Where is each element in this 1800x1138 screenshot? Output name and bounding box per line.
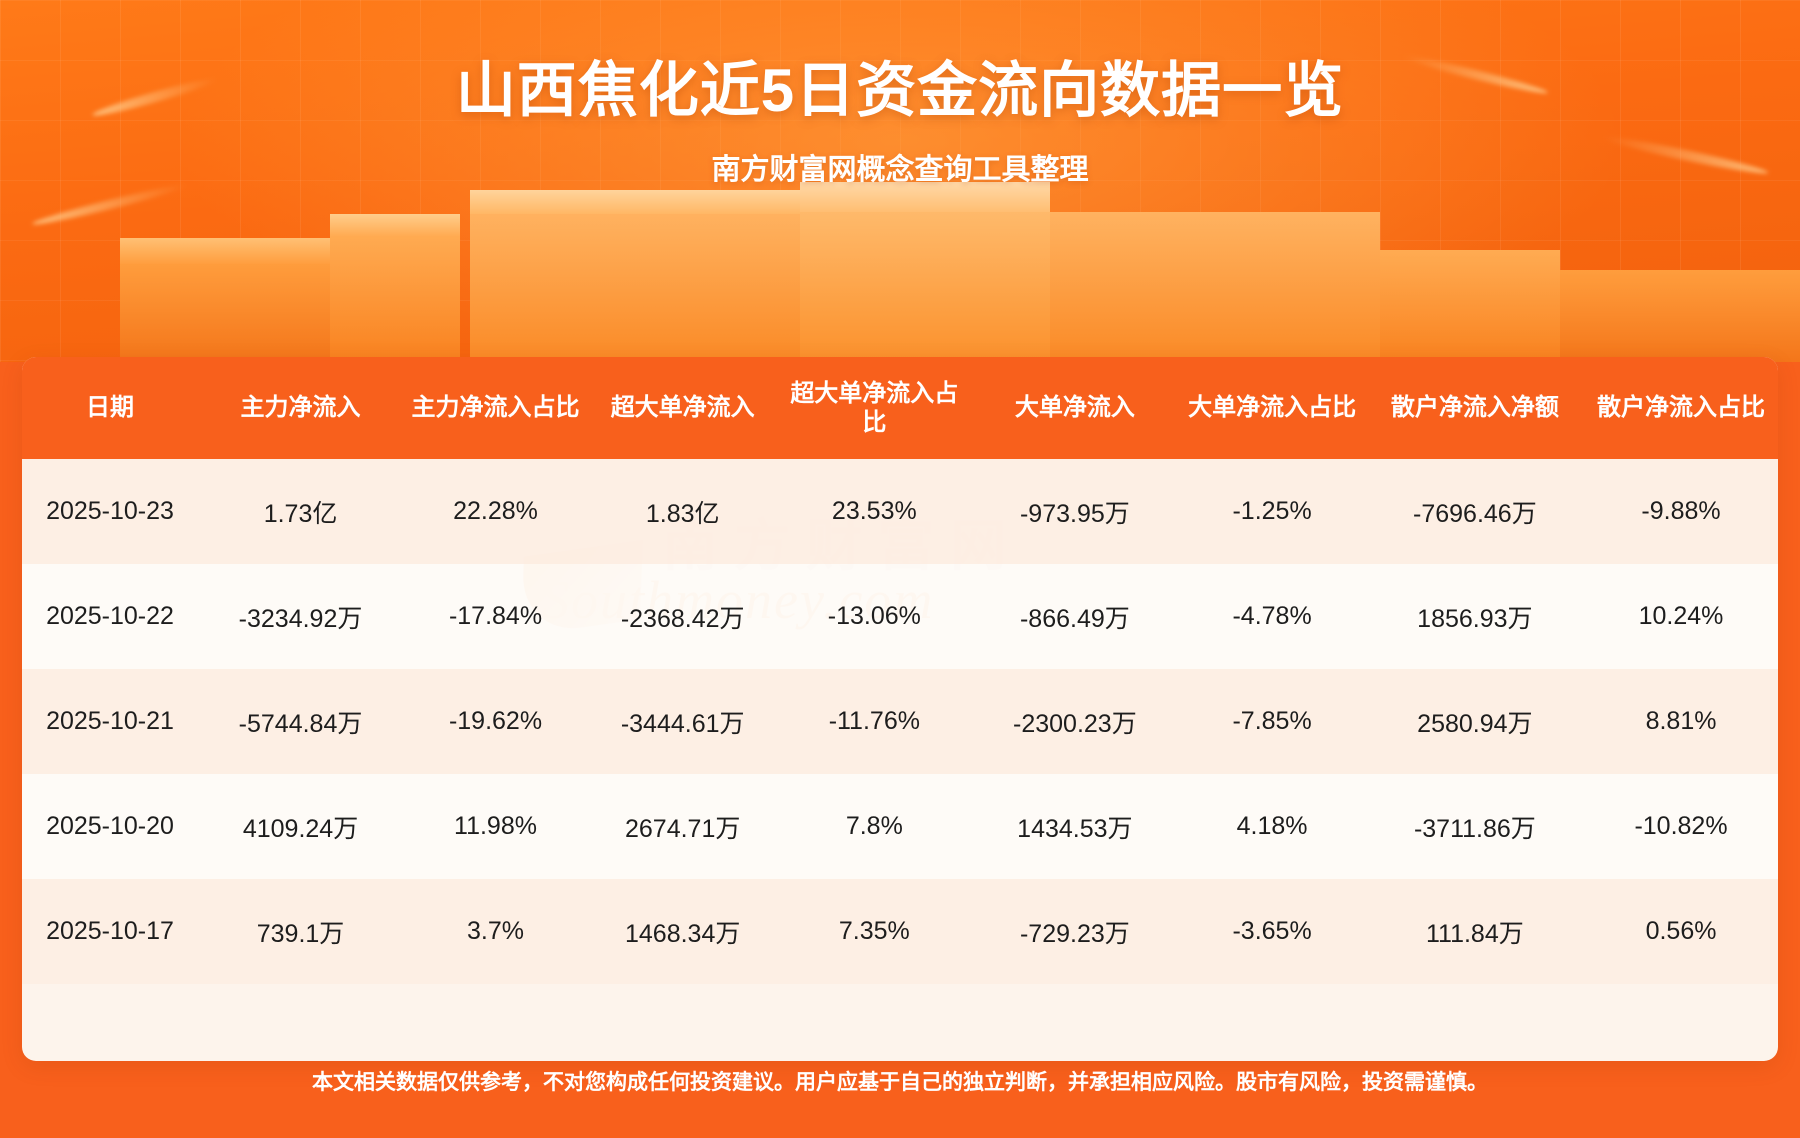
cell-value: 111.84万 bbox=[1366, 879, 1584, 984]
cell-value: 10.24% bbox=[1584, 564, 1778, 669]
cell-value: 2674.71万 bbox=[588, 774, 777, 879]
column-header-date: 日期 bbox=[22, 357, 198, 459]
cell-value: -7.85% bbox=[1178, 669, 1365, 774]
column-header-main-net-inflow: 主力净流入 bbox=[198, 357, 403, 459]
cell-date: 2025-10-22 bbox=[22, 564, 198, 669]
podium-block bbox=[800, 194, 1050, 362]
fund-flow-table: 日期 主力净流入 主力净流入占比 超大单净流入 超大单净流入占比 大单净流入 大… bbox=[22, 357, 1778, 984]
page-title: 山西焦化近5日资金流向数据一览 bbox=[0, 42, 1800, 129]
cell-value: 4109.24万 bbox=[198, 774, 403, 879]
table-row: 2025-10-22 -3234.92万 -17.84% -2368.42万 -… bbox=[22, 564, 1778, 669]
podium-block-top bbox=[330, 214, 460, 236]
cell-value: 8.81% bbox=[1584, 669, 1778, 774]
cell-value: -729.23万 bbox=[971, 879, 1178, 984]
page-subtitle: 南方财富网概念查询工具整理 bbox=[0, 146, 1800, 188]
cell-value: -9.88% bbox=[1584, 459, 1778, 564]
podium-block bbox=[1560, 270, 1800, 362]
column-header-retail-net-inflow-amount: 散户净流入净额 bbox=[1366, 357, 1584, 459]
podium-block-top bbox=[120, 238, 330, 264]
column-header-large-order-net-inflow: 大单净流入 bbox=[971, 357, 1178, 459]
cell-value: 3.7% bbox=[403, 879, 588, 984]
column-header-extra-large-order-net-inflow-ratio: 超大单净流入占比 bbox=[777, 357, 971, 459]
podium-block-top bbox=[470, 190, 800, 214]
table-row: 2025-10-23 1.73亿 22.28% 1.83亿 23.53% -97… bbox=[22, 459, 1778, 564]
cell-value: -11.76% bbox=[777, 669, 971, 774]
cell-value: -3444.61万 bbox=[588, 669, 777, 774]
cell-value: 739.1万 bbox=[198, 879, 403, 984]
cell-value: -2300.23万 bbox=[971, 669, 1178, 774]
cell-value: -5744.84万 bbox=[198, 669, 403, 774]
hero-banner: 山西焦化近5日资金流向数据一览 南方财富网概念查询工具整理 bbox=[0, 0, 1800, 362]
cell-value: -3234.92万 bbox=[198, 564, 403, 669]
cell-value: -10.82% bbox=[1584, 774, 1778, 879]
podium-block bbox=[1050, 212, 1380, 362]
cell-value: 4.18% bbox=[1178, 774, 1365, 879]
cell-value: 7.35% bbox=[777, 879, 971, 984]
cell-value: 1.73亿 bbox=[198, 459, 403, 564]
column-header-extra-large-order-net-inflow: 超大单净流入 bbox=[588, 357, 777, 459]
cell-value: -13.06% bbox=[777, 564, 971, 669]
cell-value: 1468.34万 bbox=[588, 879, 777, 984]
cell-date: 2025-10-23 bbox=[22, 459, 198, 564]
disclaimer-text: 本文相关数据仅供参考，不对您构成任何投资建议。用户应基于自己的独立判断，并承担相… bbox=[0, 1066, 1800, 1096]
column-header-main-net-inflow-ratio: 主力净流入占比 bbox=[403, 357, 588, 459]
podium-block bbox=[330, 234, 460, 362]
cell-value: -1.25% bbox=[1178, 459, 1365, 564]
cell-value: -7696.46万 bbox=[1366, 459, 1584, 564]
cell-date: 2025-10-20 bbox=[22, 774, 198, 879]
podium-block bbox=[120, 262, 330, 362]
podium-decoration bbox=[0, 182, 1800, 362]
table-row: 2025-10-17 739.1万 3.7% 1468.34万 7.35% -7… bbox=[22, 879, 1778, 984]
cell-value: 2580.94万 bbox=[1366, 669, 1584, 774]
table-header-row: 日期 主力净流入 主力净流入占比 超大单净流入 超大单净流入占比 大单净流入 大… bbox=[22, 357, 1778, 459]
cell-value: -2368.42万 bbox=[588, 564, 777, 669]
column-header-retail-net-inflow-ratio: 散户净流入占比 bbox=[1584, 357, 1778, 459]
cell-value: -19.62% bbox=[403, 669, 588, 774]
cell-value: -17.84% bbox=[403, 564, 588, 669]
cell-value: -866.49万 bbox=[971, 564, 1178, 669]
table-row: 2025-10-21 -5744.84万 -19.62% -3444.61万 -… bbox=[22, 669, 1778, 774]
cell-date: 2025-10-21 bbox=[22, 669, 198, 774]
cell-value: -3.65% bbox=[1178, 879, 1365, 984]
column-header-large-order-net-inflow-ratio: 大单净流入占比 bbox=[1178, 357, 1365, 459]
cell-value: -973.95万 bbox=[971, 459, 1178, 564]
podium-block bbox=[470, 212, 800, 362]
table-row: 2025-10-20 4109.24万 11.98% 2674.71万 7.8%… bbox=[22, 774, 1778, 879]
cell-date: 2025-10-17 bbox=[22, 879, 198, 984]
cell-value: 11.98% bbox=[403, 774, 588, 879]
cell-value: 22.28% bbox=[403, 459, 588, 564]
cell-value: 1856.93万 bbox=[1366, 564, 1584, 669]
podium-block bbox=[1380, 250, 1560, 362]
cell-value: -3711.86万 bbox=[1366, 774, 1584, 879]
cell-value: 23.53% bbox=[777, 459, 971, 564]
cell-value: 7.8% bbox=[777, 774, 971, 879]
data-card: 南方财富网 Southmoney.com 日期 主力净流入 主力净流入占比 超大… bbox=[22, 357, 1778, 1061]
cell-value: 1.83亿 bbox=[588, 459, 777, 564]
cell-value: 0.56% bbox=[1584, 879, 1778, 984]
cell-value: -4.78% bbox=[1178, 564, 1365, 669]
cell-value: 1434.53万 bbox=[971, 774, 1178, 879]
